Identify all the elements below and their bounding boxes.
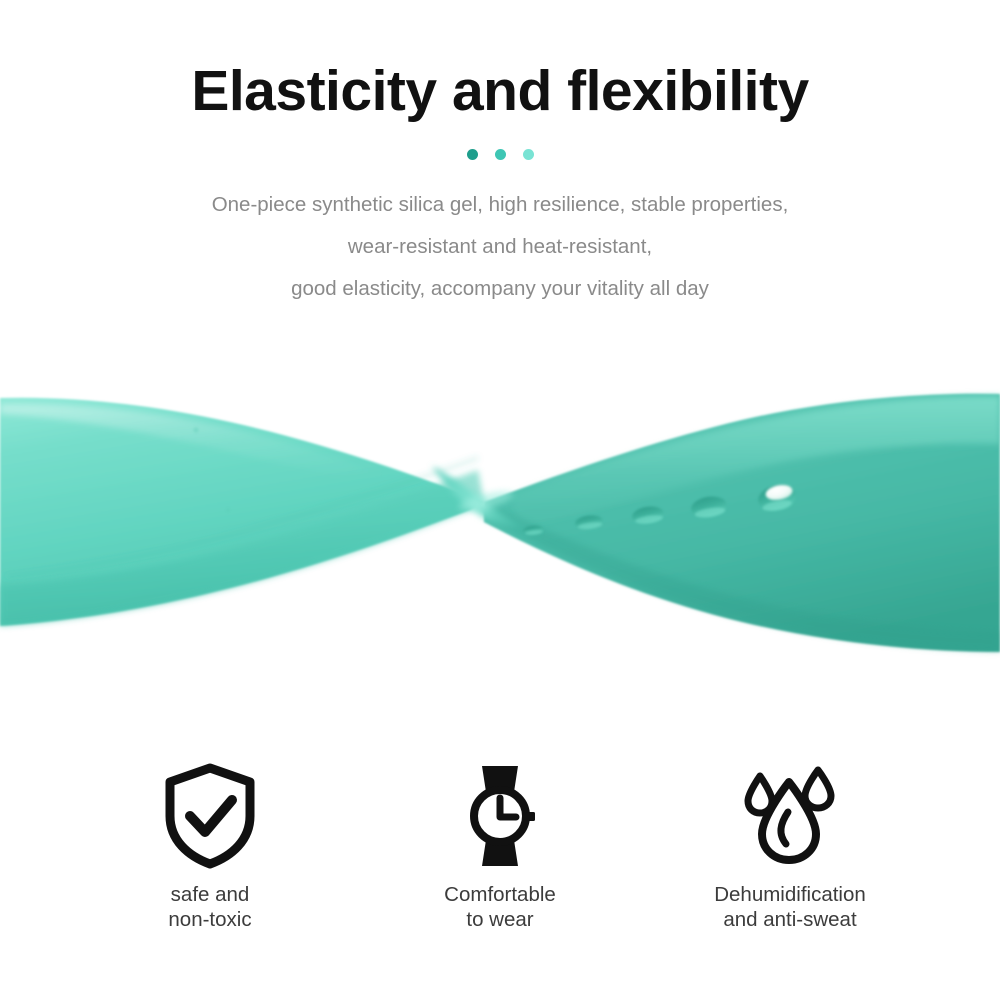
feature-label-3-line-1: Dehumidification bbox=[714, 882, 866, 907]
feature-label-3: Dehumidification and anti-sweat bbox=[714, 882, 866, 932]
feature-dehumidification: Dehumidification and anti-sweat bbox=[645, 760, 935, 932]
divider-dot-2 bbox=[495, 149, 506, 160]
feature-label-2-line-1: Comfortable bbox=[444, 882, 556, 907]
feature-label-3-line-2: and anti-sweat bbox=[714, 907, 866, 932]
feature-label-1: safe and non-toxic bbox=[168, 882, 251, 932]
feature-icon-wrap-3 bbox=[736, 760, 844, 872]
shield-check-icon bbox=[162, 762, 258, 870]
water-drops-icon bbox=[736, 762, 844, 870]
divider-dot-3 bbox=[523, 149, 534, 160]
feature-label-2: Comfortable to wear bbox=[444, 882, 556, 932]
product-image bbox=[0, 370, 1000, 680]
feature-comfortable-to-wear: Comfortable to wear bbox=[355, 760, 645, 932]
subtitle-line-2: wear-resistant and heat-resistant, bbox=[0, 226, 1000, 268]
page-title: Elasticity and flexibility bbox=[0, 62, 1000, 122]
header-block: Elasticity and flexibility One-piece syn… bbox=[0, 0, 1000, 310]
feature-icon-wrap-1 bbox=[162, 760, 258, 872]
feature-label-2-line-2: to wear bbox=[444, 907, 556, 932]
subtitle-line-1: One-piece synthetic silica gel, high res… bbox=[0, 184, 1000, 226]
dot-divider bbox=[0, 148, 1000, 162]
subtitle-line-3: good elasticity, accompany your vitality… bbox=[0, 268, 1000, 310]
strap-surface-speck-1 bbox=[193, 427, 198, 432]
strap-illustration bbox=[0, 370, 1000, 680]
feature-safe-non-toxic: safe and non-toxic bbox=[65, 760, 355, 932]
product-feature-page: Elasticity and flexibility One-piece syn… bbox=[0, 0, 1000, 1000]
subtitle-paragraph: One-piece synthetic silica gel, high res… bbox=[0, 184, 1000, 310]
wristwatch-icon bbox=[452, 762, 548, 870]
strap-surface-speck-2 bbox=[226, 508, 230, 512]
divider-dot-1 bbox=[467, 149, 478, 160]
feature-label-1-line-2: non-toxic bbox=[168, 907, 251, 932]
feature-icon-wrap-2 bbox=[452, 760, 548, 872]
feature-label-1-line-1: safe and bbox=[168, 882, 251, 907]
feature-row: safe and non-toxic bbox=[0, 760, 1000, 950]
